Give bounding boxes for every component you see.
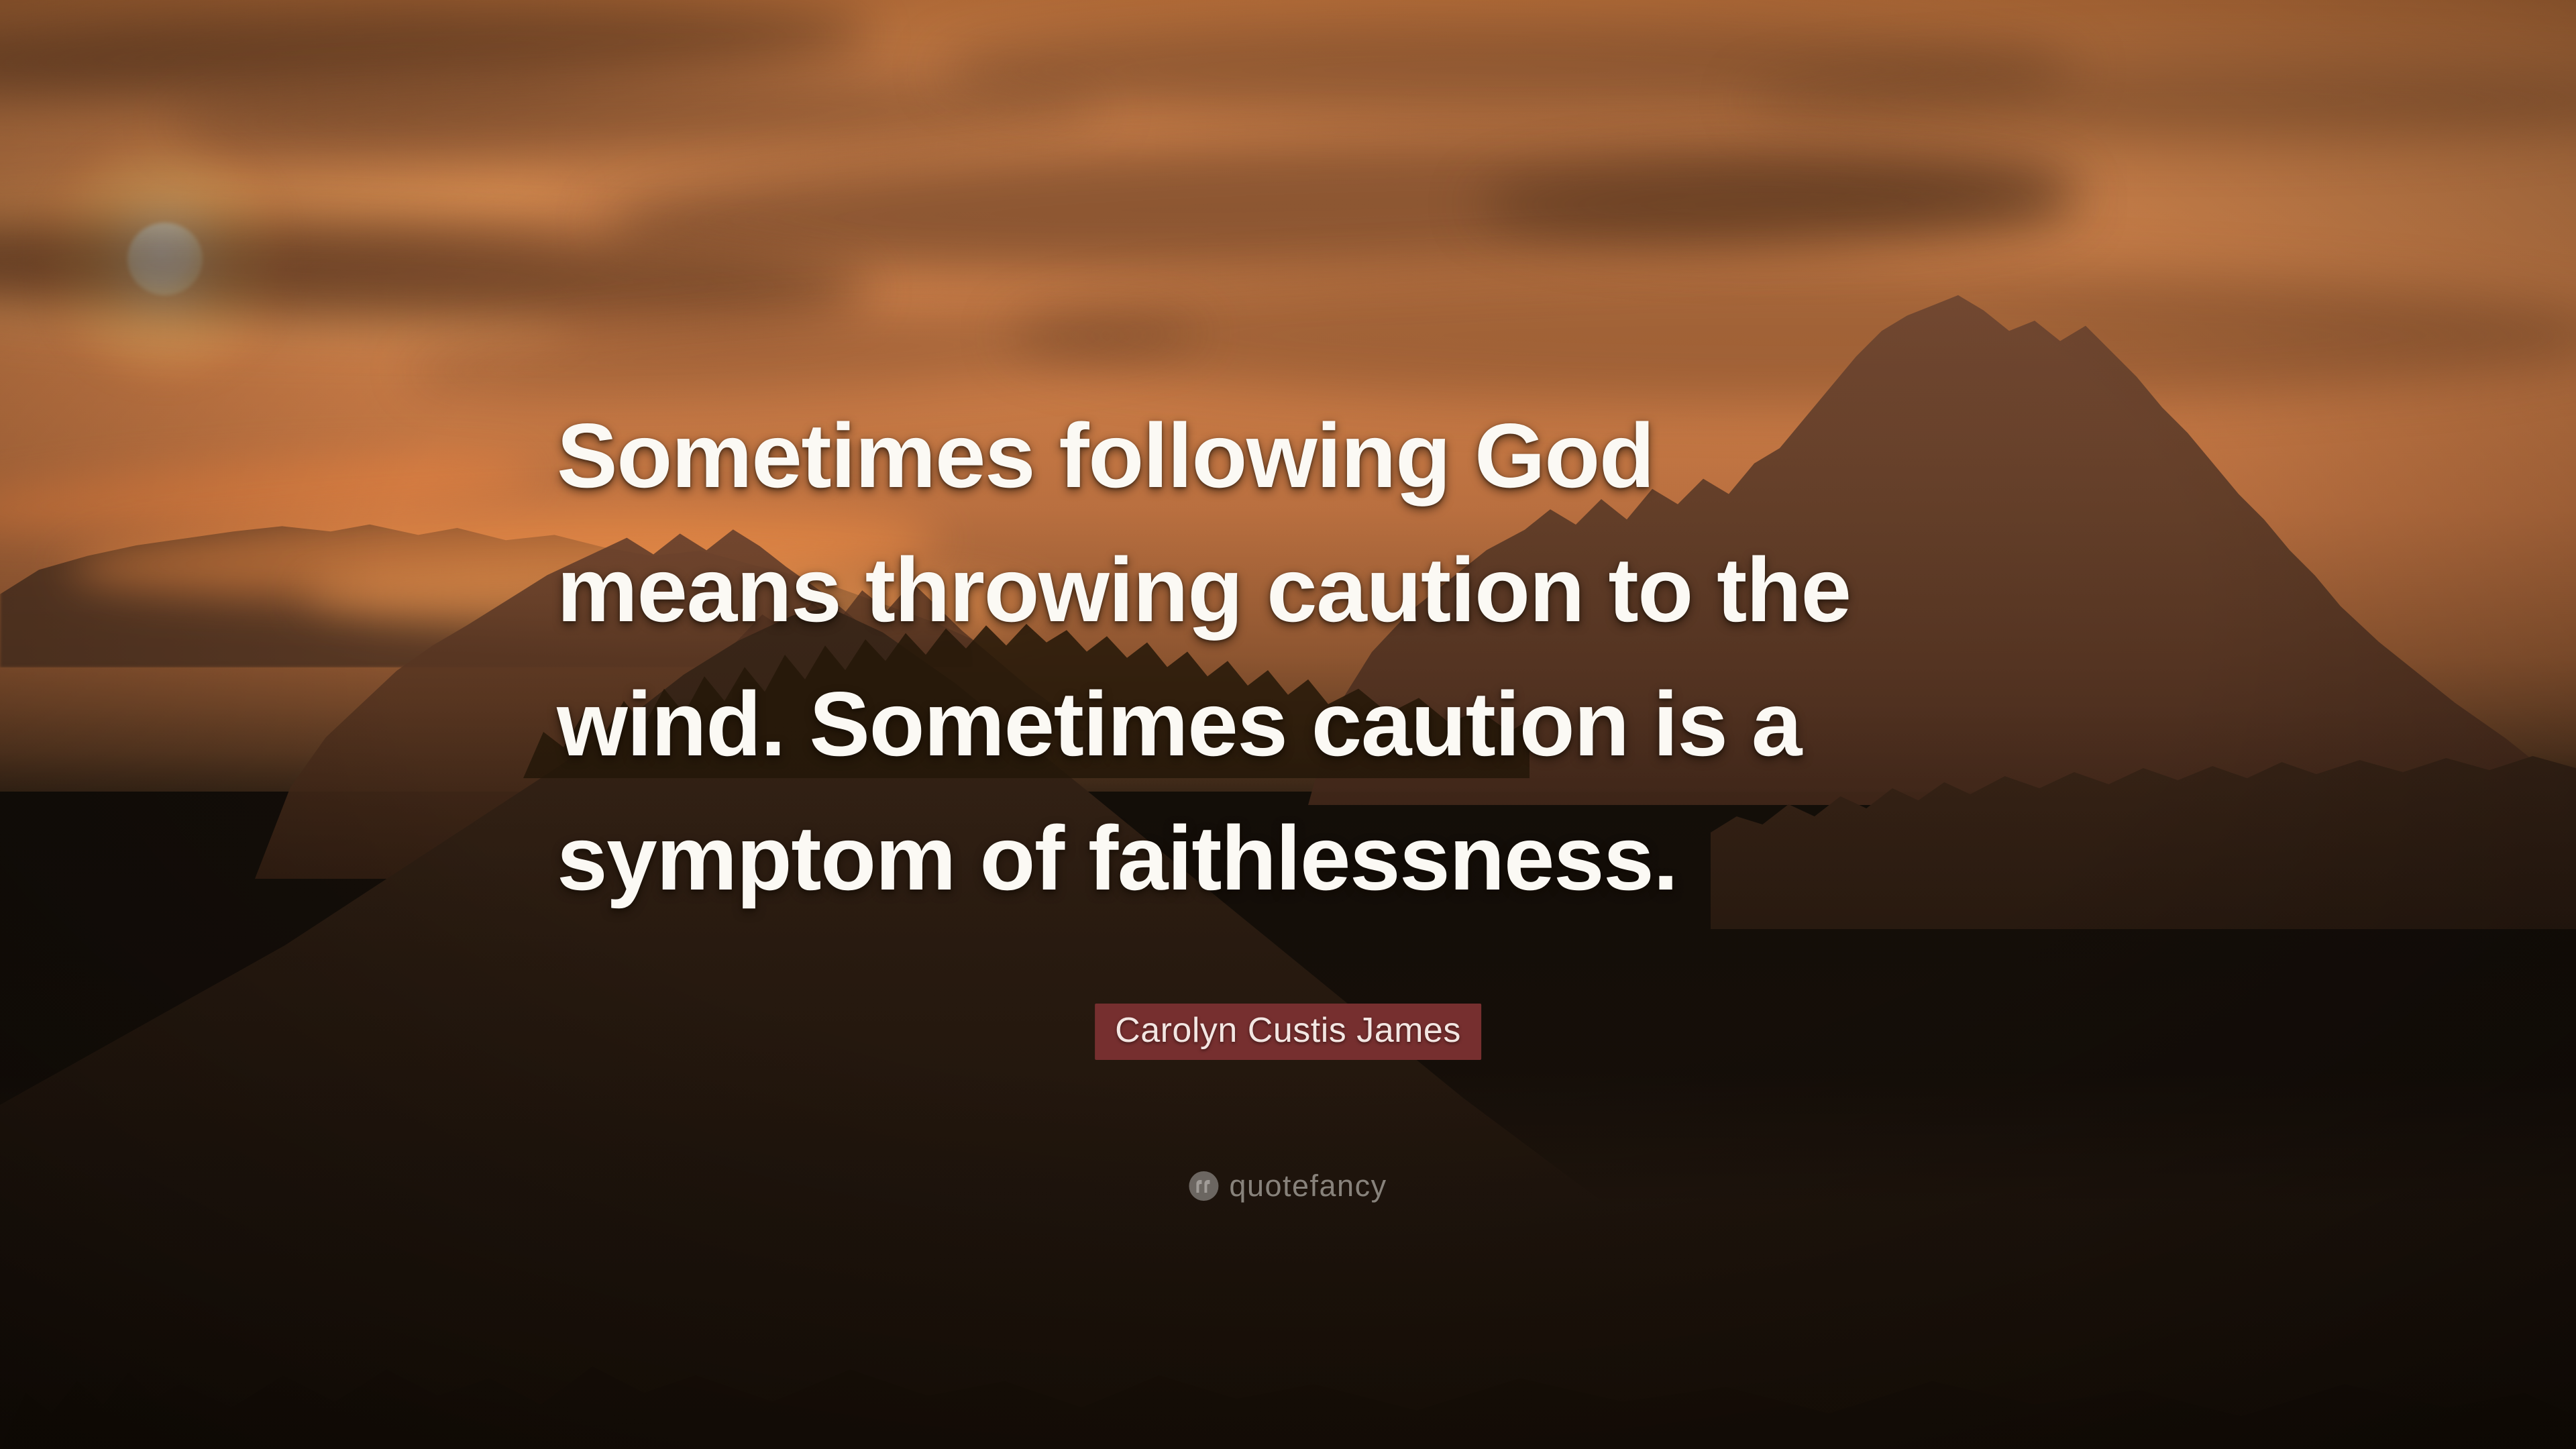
- quote-text: Sometimes following God means throwing c…: [557, 389, 2086, 926]
- quotefancy-wordmark: quotefancy: [1229, 1171, 1387, 1201]
- author-badge[interactable]: Carolyn Custis James: [1095, 1004, 1481, 1060]
- quote-line-1: Sometimes following God: [557, 389, 2086, 523]
- quote-line-4: symptom of faithlessness.: [557, 792, 2086, 926]
- double-quote-icon: [1189, 1171, 1218, 1201]
- quotefancy-logo[interactable]: quotefancy: [1189, 1171, 1387, 1201]
- quote-poster: Sometimes following God means throwing c…: [0, 0, 2576, 1449]
- quote-line-2: means throwing caution to the: [557, 523, 2086, 657]
- author-name: Carolyn Custis James: [1115, 1011, 1461, 1050]
- poster-content: Sometimes following God means throwing c…: [0, 0, 2576, 1449]
- quote-line-3: wind. Sometimes caution is a: [557, 657, 2086, 792]
